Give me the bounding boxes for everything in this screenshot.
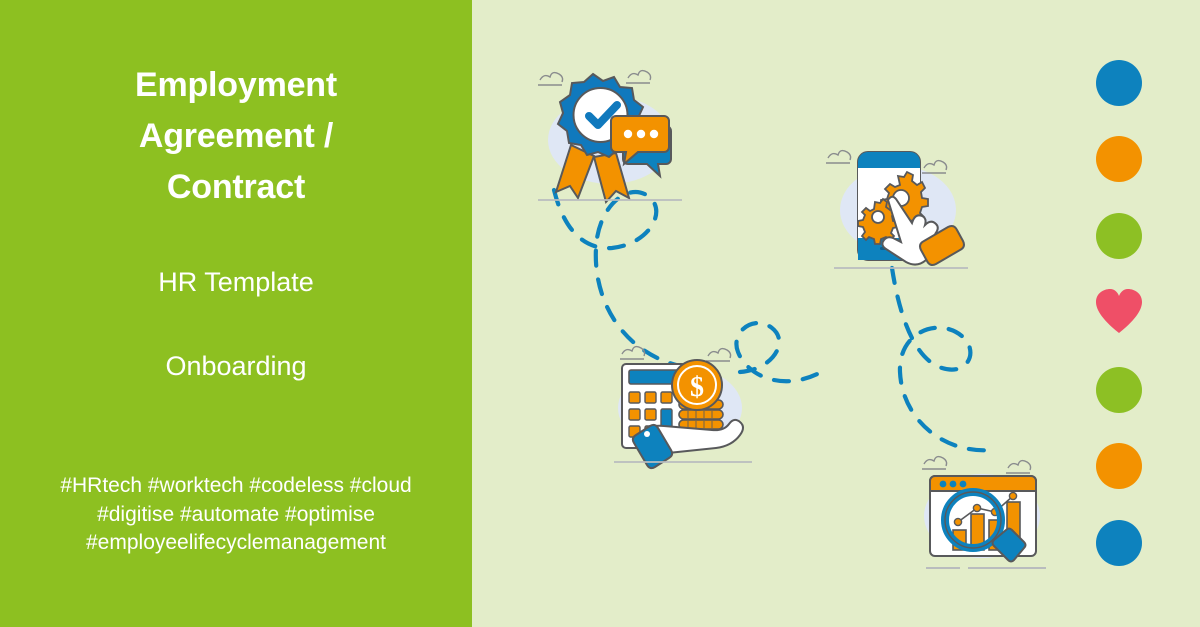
subtitle-hr-template: HR Template [0,262,472,302]
hashtag-line-3: #employeelifecyclemanagement [0,529,472,558]
subtitle-group: HR Template Onboarding [0,262,472,386]
window-dot-2 [950,481,957,488]
cloud-doodle-icon [922,457,1031,473]
hashtag-line-2: #digitise #automate #optimise [0,501,472,530]
phone-automation-illustration [820,140,980,285]
subtitle-spacer [0,302,472,346]
blue-circle [1096,60,1142,106]
payroll-calculator-illustration: $ [600,340,765,475]
page-title: Employment Agreement / Contract [0,60,472,213]
orange-circle [1096,443,1142,489]
title-line-1: Employment [0,60,472,111]
connector-path-3 [892,268,992,450]
verified-badge-illustration [524,52,696,207]
svg-text:$: $ [690,372,704,403]
title-line-2: Agreement / [0,111,472,162]
green-circle [1096,213,1142,259]
poster-canvas: Employment Agreement / Contract HR Templ… [0,0,1200,627]
color-dot-column [1096,0,1142,627]
hashtag-line-1: #HRtech #worktech #codeless #cloud [0,472,472,501]
heart-icon [1096,289,1142,335]
orange-circle [1096,136,1142,182]
hashtag-group: #HRtech #worktech #codeless #cloud #digi… [0,472,472,558]
blue-circle [1096,520,1142,566]
right-illustration-panel: $ [472,0,1200,627]
green-circle [1096,367,1142,413]
open-hand-icon [633,420,743,468]
window-dot-1 [940,481,947,488]
subtitle-onboarding: Onboarding [0,346,472,386]
dollar-coin-icon: $ [672,360,722,410]
pink-heart [1096,289,1142,335]
window-dot-3 [960,481,967,488]
analytics-dashboard-illustration [908,450,1063,585]
cloud-doodle-icon [620,347,731,361]
title-line-3: Contract [0,162,472,213]
left-text-panel: Employment Agreement / Contract HR Templ… [0,0,472,627]
